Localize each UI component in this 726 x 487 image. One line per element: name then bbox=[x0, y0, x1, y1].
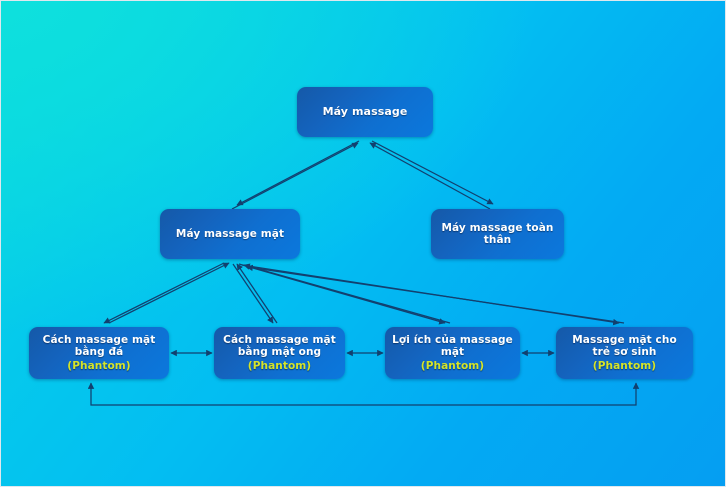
edge-may-massage-to-may-massage-toan-than bbox=[372, 141, 493, 204]
node-label: Lợi ích của massage mặt bbox=[391, 334, 514, 359]
edge-bottom-loop bbox=[91, 383, 636, 405]
edge-may-massage-mat-to-may-massage bbox=[232, 143, 358, 209]
node-massage-mat-cho-tre-so-sinh[interactable]: Massage mặt cho trẻ sơ sinh (Phantom) bbox=[556, 327, 693, 379]
node-label: Máy massage bbox=[303, 106, 427, 119]
node-phantom-label: (Phantom) bbox=[562, 360, 687, 372]
edge-loi-ich-to-hub bbox=[244, 265, 450, 323]
edge-hub-to-da bbox=[104, 263, 224, 323]
edge-layer bbox=[1, 1, 726, 487]
node-may-massage-mat[interactable]: Máy massage mặt bbox=[160, 209, 300, 259]
edge-may-massage-toan-than-to-may-massage bbox=[370, 143, 490, 209]
node-loi-ich-cua-massage-mat[interactable]: Lợi ích của massage mặt (Phantom) bbox=[385, 327, 520, 379]
edge-may-massage-to-may-massage-mat bbox=[237, 141, 359, 205]
node-label: Massage mặt cho trẻ sơ sinh bbox=[562, 334, 687, 359]
node-cach-massage-mat-bang-mat-ong[interactable]: Cách massage mặt bằng mật ong (Phantom) bbox=[214, 327, 345, 379]
edge-hub-to-mat-ong bbox=[233, 264, 273, 323]
node-may-massage[interactable]: Máy massage bbox=[297, 87, 433, 137]
edge-da-to-hub bbox=[109, 263, 229, 323]
node-cach-massage-mat-bang-da[interactable]: Cách massage mặt bằng đá (Phantom) bbox=[29, 327, 169, 379]
node-may-massage-toan-than[interactable]: Máy massage toàn thân bbox=[431, 209, 564, 259]
node-label: Máy massage toàn thân bbox=[437, 222, 558, 247]
diagram-canvas: Máy massage Máy massage mặt Máy massage … bbox=[0, 0, 726, 487]
node-label: Máy massage mặt bbox=[166, 228, 294, 240]
node-label: Cách massage mặt bằng đá bbox=[35, 334, 163, 359]
node-phantom-label: (Phantom) bbox=[391, 360, 514, 372]
edge-tre-so-sinh-to-hub bbox=[247, 267, 624, 323]
node-phantom-label: (Phantom) bbox=[220, 360, 339, 372]
node-label: Cách massage mặt bằng mật ong bbox=[220, 334, 339, 359]
node-phantom-label: (Phantom) bbox=[35, 360, 163, 372]
